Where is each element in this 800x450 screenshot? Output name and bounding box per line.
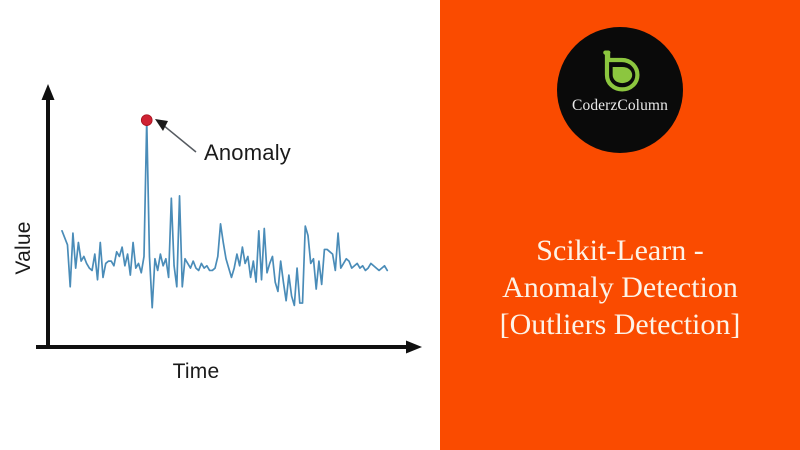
anomaly-label: Anomaly bbox=[204, 140, 291, 165]
x-axis-label: Time bbox=[173, 360, 220, 383]
anomaly-marker-dot bbox=[141, 115, 152, 126]
slide-title-line-2: Anomaly Detection bbox=[446, 269, 794, 306]
chart-panel: Anomaly Time Value bbox=[0, 0, 440, 450]
x-axis-arrowhead bbox=[406, 341, 422, 354]
logo-badge[interactable]: CoderzColumn bbox=[557, 27, 683, 153]
logo-wordmark: CoderzColumn bbox=[572, 97, 668, 115]
anomaly-callout-arrow bbox=[155, 119, 196, 152]
slide-title: Scikit-Learn - Anomaly Detection [Outlie… bbox=[440, 232, 800, 343]
slide-root: Anomaly Time Value CoderzColumn Scikit-L… bbox=[0, 0, 800, 450]
anomaly-timeseries-chart: Anomaly Time Value bbox=[0, 0, 440, 450]
coderzcolumn-leaf-logo-icon bbox=[598, 49, 642, 93]
y-axis bbox=[42, 84, 55, 347]
y-axis-label: Value bbox=[12, 221, 35, 274]
x-axis bbox=[36, 341, 422, 354]
brand-panel: CoderzColumn Scikit-Learn - Anomaly Dete… bbox=[440, 0, 800, 450]
y-axis-arrowhead bbox=[42, 84, 55, 100]
slide-title-line-3: [Outliers Detection] bbox=[446, 306, 794, 343]
callout-arrowhead bbox=[155, 119, 168, 131]
slide-title-line-1: Scikit-Learn - bbox=[446, 232, 794, 269]
